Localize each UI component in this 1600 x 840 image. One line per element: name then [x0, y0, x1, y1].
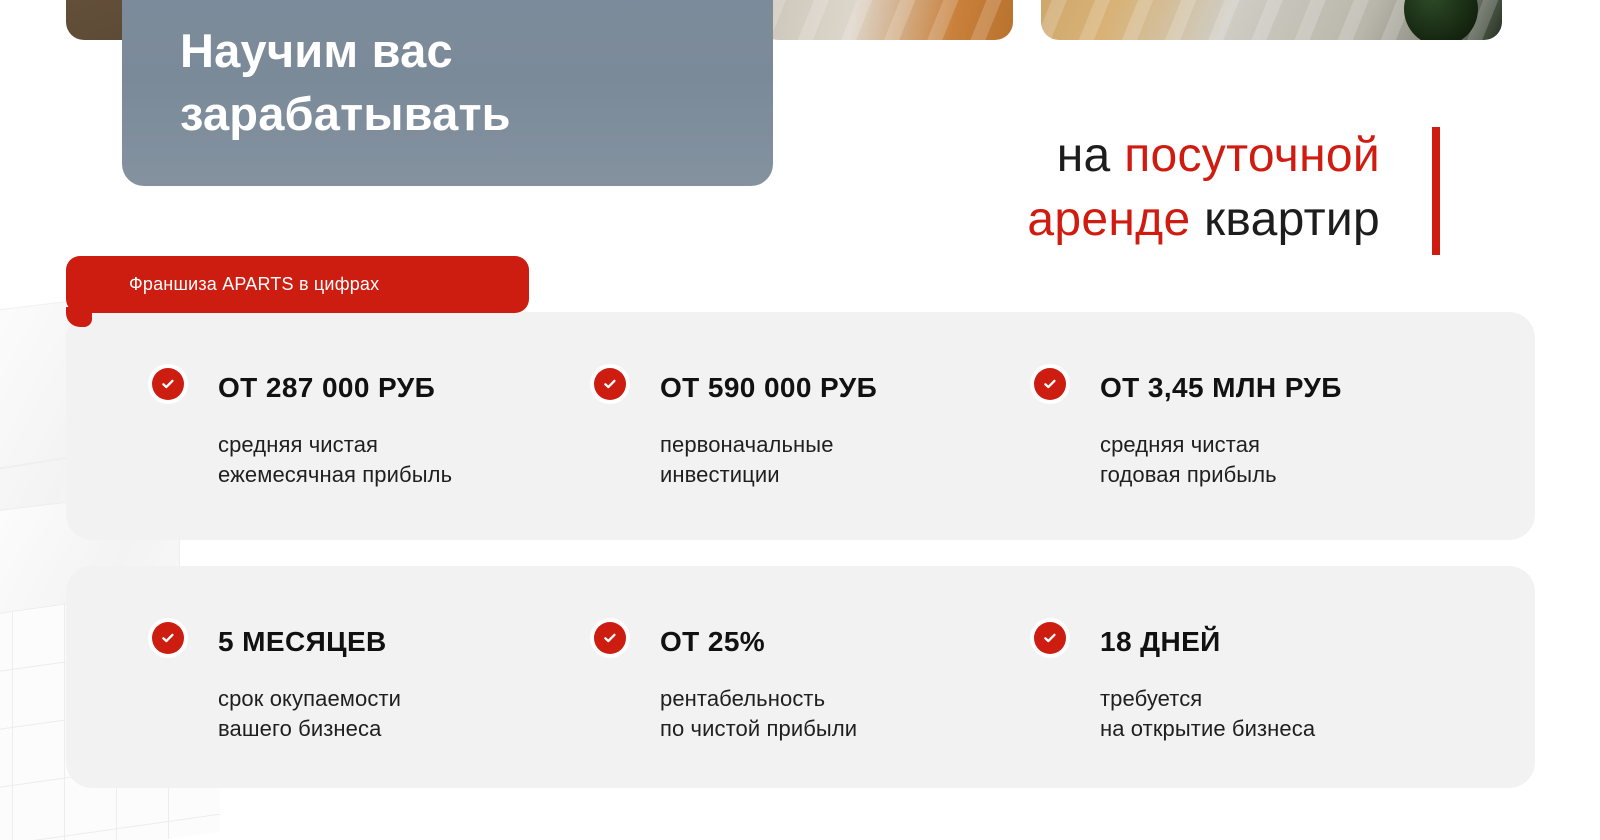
photo-sheen — [760, 0, 1013, 40]
stat-value: ОТ 3,45 МЛН РУБ — [1100, 367, 1421, 402]
stat-item: 5 МЕСЯЦЕВ срок окупаемости вашего бизнес… — [66, 566, 521, 788]
accent-bar — [1432, 127, 1440, 255]
check-circle-icon — [152, 368, 184, 400]
stat-description: срок окупаемости вашего бизнеса — [218, 684, 521, 744]
stat-description: требуется на открытие бизнеса — [1100, 684, 1421, 744]
stat-item: ОТ 3,45 МЛН РУБ средняя чистая годовая п… — [961, 312, 1421, 540]
check-circle-icon — [594, 622, 626, 654]
check-circle-icon — [594, 368, 626, 400]
stat-item: ОТ 590 000 РУБ первоначальные инвестиции — [521, 312, 961, 540]
stat-value: ОТ 590 000 РУБ — [660, 367, 961, 402]
bottle-object — [1404, 0, 1478, 40]
subheadline-word-na: на — [1057, 129, 1124, 182]
subheadline-word-posutochnoy: посуточной — [1124, 129, 1380, 182]
stat-item: 18 ДНЕЙ требуется на открытие бизнеса — [961, 566, 1421, 788]
headline-line-1: Научим вас — [180, 20, 773, 83]
interior-photo-bed-wood[interactable] — [760, 0, 1013, 40]
stats-panel-row-2: 5 МЕСЯЦЕВ срок окупаемости вашего бизнес… — [66, 566, 1535, 788]
stat-description: первоначальные инвестиции — [660, 430, 961, 490]
check-circle-icon — [1034, 622, 1066, 654]
badge-label: Франшиза APARTS в цифрах — [129, 274, 379, 295]
stat-item: ОТ 25% рентабельность по чистой прибыли — [521, 566, 961, 788]
headline-line-2: зарабатывать — [180, 83, 773, 146]
stat-value: 18 ДНЕЙ — [1100, 621, 1421, 656]
interior-photo-kitchen-wood[interactable] — [1041, 0, 1502, 40]
stat-description: средняя чистая годовая прибыль — [1100, 430, 1421, 490]
stat-value: 5 МЕСЯЦЕВ — [218, 621, 521, 656]
franchise-numbers-badge[interactable]: Франшиза APARTS в цифрах — [66, 256, 529, 313]
check-circle-icon — [1034, 368, 1066, 400]
badge-container: Франшиза APARTS в цифрах — [66, 256, 529, 313]
check-circle-icon — [152, 622, 184, 654]
subheadline: на посуточной аренде квартир — [880, 124, 1380, 252]
subheadline-word-arende: аренде — [1027, 193, 1190, 246]
stat-value: ОТ 287 000 РУБ — [218, 367, 521, 402]
stats-panel-row-1: ОТ 287 000 РУБ средняя чистая ежемесячна… — [66, 312, 1535, 540]
stat-description: средняя чистая ежемесячная прибыль — [218, 430, 521, 490]
stat-description: рентабельность по чистой прибыли — [660, 684, 961, 744]
stat-item: ОТ 287 000 РУБ средняя чистая ежемесячна… — [66, 312, 521, 540]
stat-value: ОТ 25% — [660, 621, 961, 656]
subheadline-word-kvartir: квартир — [1190, 193, 1380, 246]
headline-card: Научим вас зарабатывать — [122, 0, 773, 186]
